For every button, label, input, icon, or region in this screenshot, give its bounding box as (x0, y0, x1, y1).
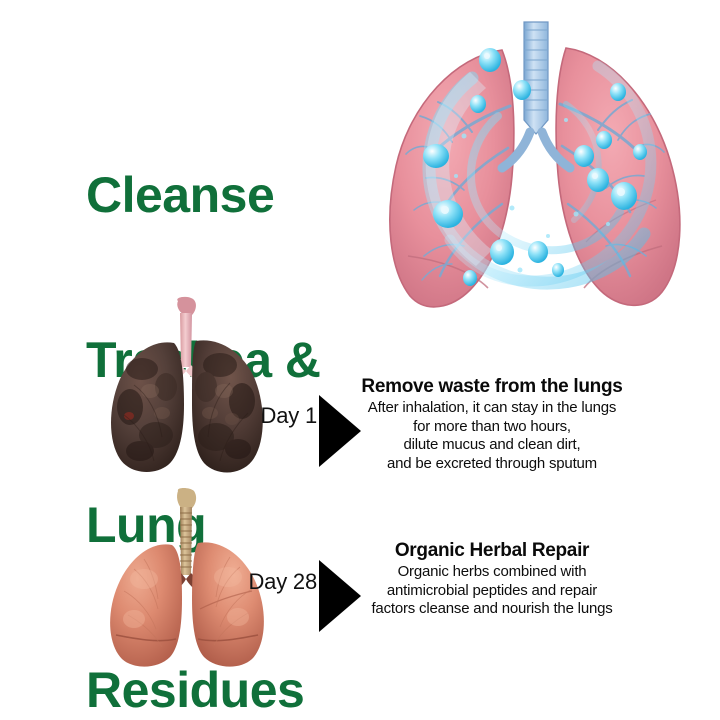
comparison-row-day-28: Day 28 Organic Herbal Repair Organic her… (0, 487, 720, 672)
body-line: factors cleanse and nourish the lungs (356, 600, 628, 619)
body-line: and be excreted through sputum (356, 455, 628, 474)
headline-line-1: Cleanse (86, 168, 386, 223)
body-day-1: After inhalation, it can stay in the lun… (356, 399, 628, 473)
text-block-day-1: Remove waste from the lungs After inhala… (356, 375, 628, 473)
arrow-right-icon-2 (317, 560, 361, 632)
body-line: dilute mucus and clean dirt, (356, 436, 628, 455)
text-block-day-28: Organic Herbal Repair Organic herbs comb… (356, 539, 628, 619)
arrow-right-icon-1 (317, 395, 361, 467)
heading-day-1: Remove waste from the lungs (356, 375, 628, 398)
cleansed-lungs-illustration (352, 8, 720, 320)
day-label-1: Day 1 (243, 403, 317, 429)
body-line: antimicrobial peptides and repair (356, 582, 628, 601)
diseased-lungs-photo (96, 295, 286, 480)
body-line: for more than two hours, (356, 418, 628, 437)
day-label-28: Day 28 (243, 569, 317, 595)
comparison-row-day-1: Day 1 Remove waste from the lungs After … (0, 295, 720, 480)
body-day-28: Organic herbs combined with antimicrobia… (356, 563, 628, 619)
infographic-poster: Cleanse Trachea & Lung Residues (0, 0, 720, 720)
body-line: Organic herbs combined with (356, 563, 628, 582)
body-line: After inhalation, it can stay in the lun… (356, 399, 628, 418)
heading-day-28: Organic Herbal Repair (356, 539, 628, 562)
